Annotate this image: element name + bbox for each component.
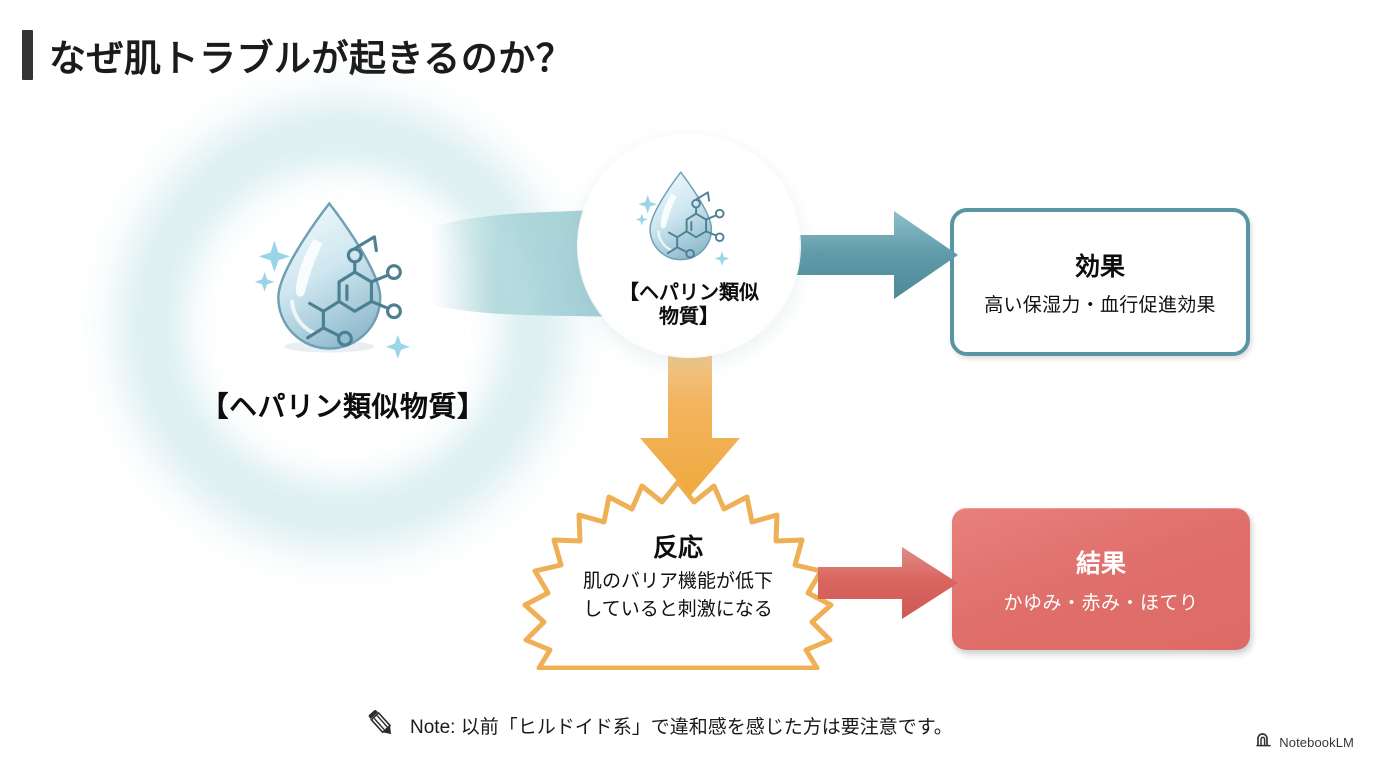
result-box: 結果 かゆみ・赤み・ほてり [952,508,1250,650]
center-node: 【ヘパリン類似 物質】 [578,135,800,357]
notebooklm-icon [1256,733,1272,752]
center-node-label: 【ヘパリン類似 物質】 [619,282,759,329]
source-node: 【ヘパリン類似物質】 [128,110,558,540]
note-text: Note: 以前「ヒルドイド系」で違和感を感じた方は要注意です。 [410,712,953,739]
result-title: 結果 [1076,544,1126,580]
result-body: かゆみ・赤み・ほてり [1003,588,1198,615]
source-node-label: 【ヘパリン類似物質】 [200,385,485,425]
reaction-node [518,480,838,670]
connector-reaction-to-result [818,545,963,621]
connector-center-to-effect [790,205,965,305]
notebooklm-watermark: NotebookLM [1256,733,1354,752]
effect-body: 高い保湿力・血行促進効果 [984,290,1216,317]
pencil-icon [364,706,398,745]
water-drop-molecule-icon [245,178,441,379]
center-node-label-line2: 物質】 [619,306,759,330]
title-accent-bar [22,30,33,80]
slide-canvas: なぜ肌トラブルが起きるのか？ [0,0,1376,768]
center-node-label-line1: 【ヘパリン類似 [619,282,759,306]
title-text: なぜ肌トラブルが起きるのか？ [49,28,573,82]
effect-title: 効果 [1075,247,1125,283]
note: Note: 以前「ヒルドイド系」で違和感を感じた方は要注意です。 [364,706,953,745]
water-drop-molecule-icon [630,157,748,280]
effect-box: 効果 高い保湿力・血行促進効果 [950,208,1250,356]
connector-center-to-reaction [630,352,750,502]
watermark-text: NotebookLM [1279,735,1354,750]
page-title: なぜ肌トラブルが起きるのか？ [22,28,573,82]
